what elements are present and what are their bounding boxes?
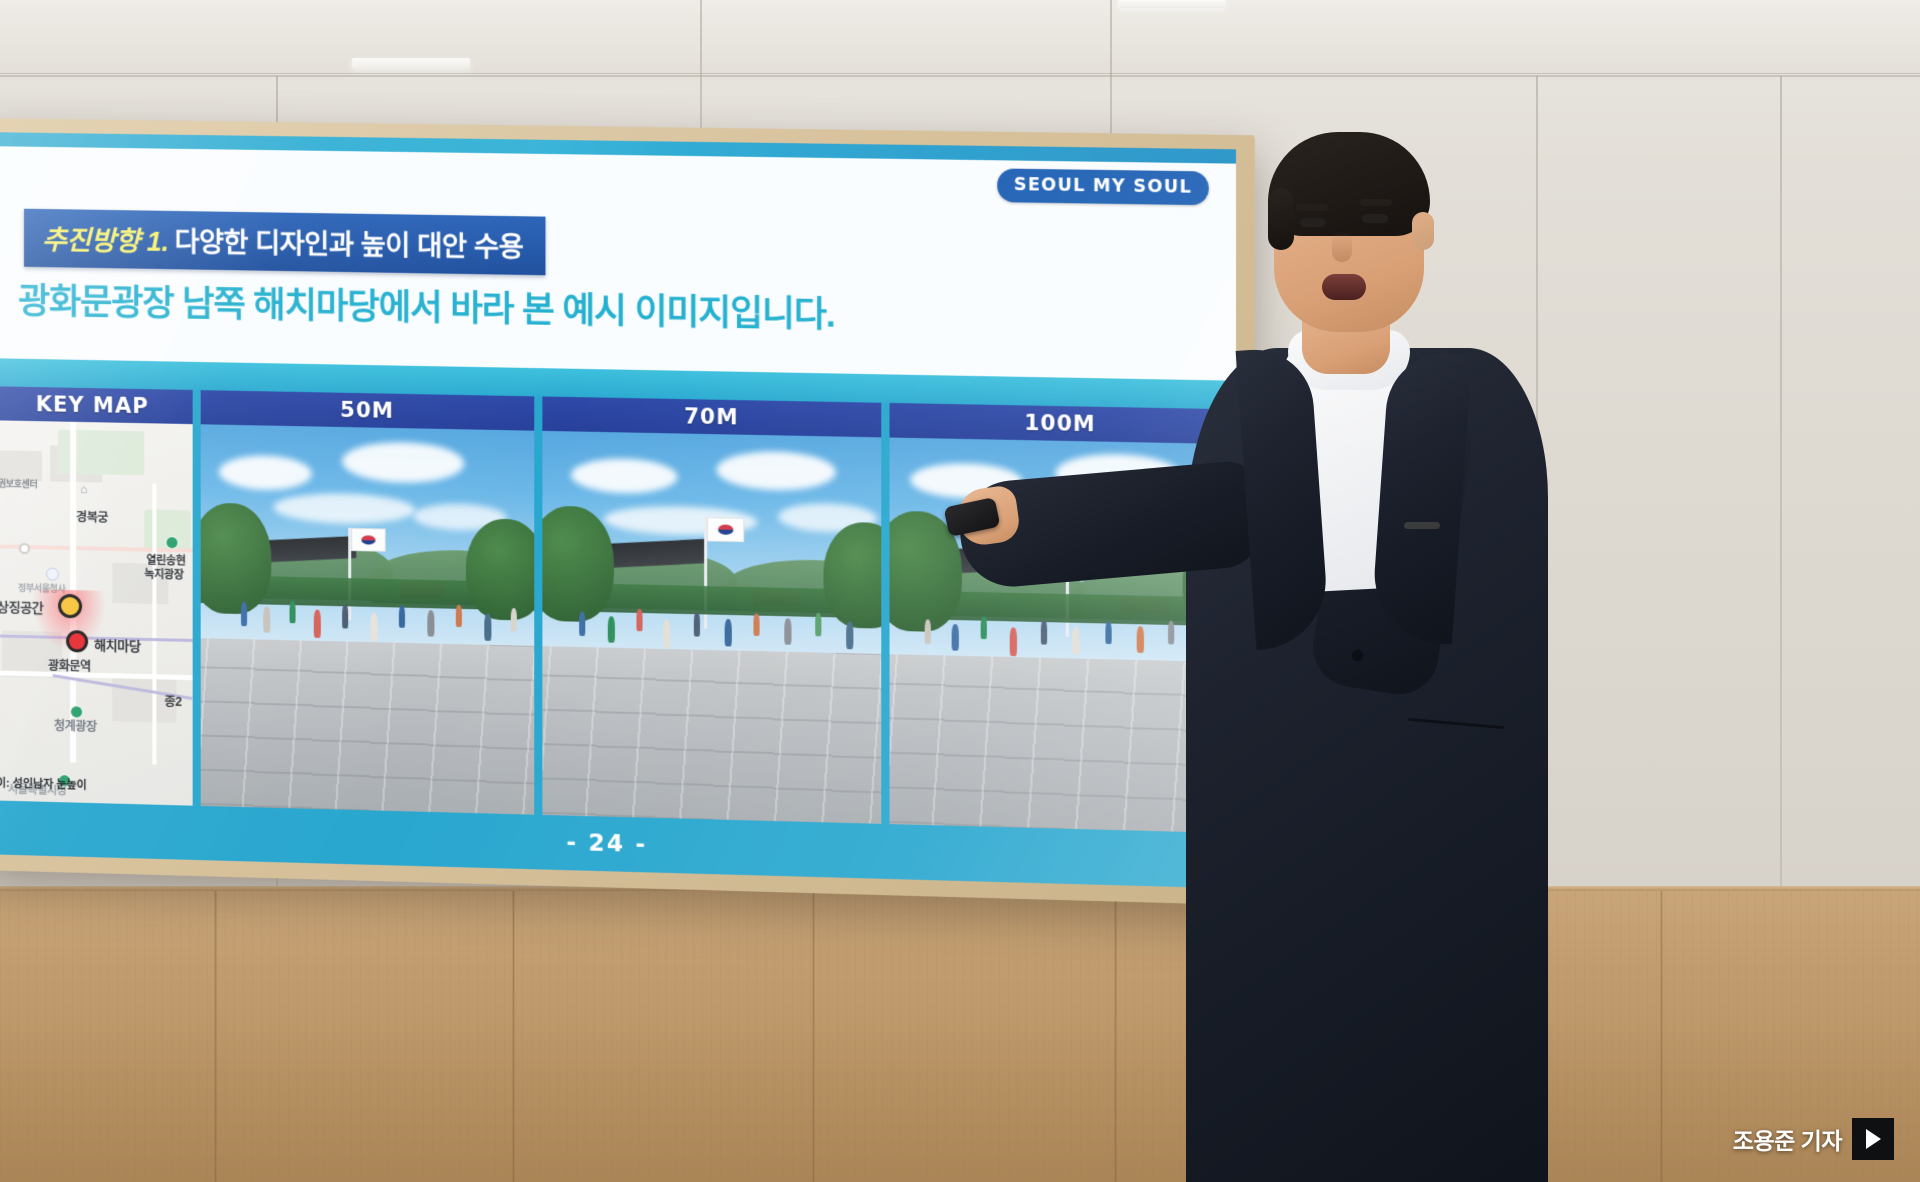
crowd-figure [370,613,377,641]
key-map-note: 이: 성인남자 눈높이 [0,774,87,792]
wall-panel-line-5 [1780,76,1782,942]
slide-surface[interactable]: SEOUL MY SOUL 추진방향 1.다양한 디자인과 높이 대안 수용 광… [0,132,1236,888]
slide-kicker-banner: 추진방향 1.다양한 디자인과 높이 대안 수용 [24,209,546,276]
crowd-figure [785,618,792,645]
map-label-human-rights: 인권보호센터 [0,476,37,490]
panel-render-50m[interactable]: 50M [201,390,535,815]
palace-icon: ⌂ [80,482,87,496]
crowd-figure [290,601,296,623]
wood-seam-2 [512,886,515,1182]
panel-render-70m[interactable]: 70M [543,396,881,823]
pin-label-haechi-madang: 해치마당 [94,635,140,655]
crowd-figure [694,612,700,636]
ceiling-light-2 [1118,0,1226,8]
photo-credit: 조용준 기자 [1733,1118,1894,1160]
plaza-ground-100m [889,653,1232,833]
wood-seam-1 [214,886,217,1182]
render-art-70m [543,431,881,824]
panel-label-key-map: KEY MAP [0,386,193,424]
map-junction-node [19,543,30,554]
triangle-glyph [1866,1129,1881,1149]
map-poi-songhyeon [165,536,178,549]
crowd-figure [342,604,348,628]
flag-taegeuk-70m [718,524,733,535]
crowd-figure [1009,627,1016,656]
render-art-50m [201,424,535,814]
crowd-figure [484,613,491,640]
press-logo-icon [1852,1118,1894,1160]
panel-row: KEY MAP [0,386,1236,833]
pin-label-symbol-space: 국가상징공간 [0,596,43,617]
wood-seam-4 [1114,886,1117,1182]
yellow-pin-icon[interactable] [58,594,82,619]
korean-flag-100m [1069,500,1111,528]
presentation-screen[interactable]: SEOUL MY SOUL 추진방향 1.다양한 디자인과 높이 대안 수용 광… [0,118,1255,905]
crowd-figure [846,622,853,650]
crowd-figure [1136,626,1143,653]
map-label-green-plaza: 녹지광장 [144,566,183,583]
flag-taegeuk-100m [1081,508,1098,520]
crowd-figure [924,619,930,644]
kicker-text: 다양한 디자인과 높이 대안 수용 [174,227,523,263]
seoul-brand-logo: SEOUL MY SOUL [997,168,1208,205]
crowd-figure [951,624,958,651]
ceiling-light-1 [352,58,470,68]
crowd-figure [637,609,643,631]
crowd-figure [725,619,732,647]
wall-seam-upper [0,75,1920,77]
korean-flag-70m [708,517,745,542]
crowd-figure [816,613,822,637]
crowd-figure [241,602,247,626]
crowd-figure [314,610,321,638]
plaza-ground-70m [543,645,881,824]
panel-key-map[interactable]: KEY MAP [0,386,193,805]
map-label-cheonggye-plaza: 청계광장 [54,717,97,735]
wall-panel-line-4 [1536,76,1538,942]
wood-wainscot [0,886,1920,1182]
map-label-gwanghwamun-stn: 광화문역 [48,657,91,675]
screen-mount-dot [1240,897,1259,916]
crowd-figure [608,616,615,642]
panel-render-100m[interactable]: 100M [889,403,1232,833]
kicker-number: 추진방향 1. [42,225,168,257]
slide-page-number: - 24 - [566,830,647,858]
photographer-name: 조용준 기자 [1733,1122,1842,1156]
crowd-figure [427,610,434,636]
render-art-100m [889,438,1232,834]
slide-subtitle: 광화문광장 남쪽 해치마당에서 바라 본 예시 이미지입니다. [18,273,834,338]
crowd-figure [1201,630,1208,658]
crowd-figure [263,606,270,632]
ceiling-strip [0,0,1920,74]
plaza-ground-50m [201,637,535,815]
map-road-h1 [0,670,193,680]
wood-seam-3 [812,886,815,1182]
crowd-figure [1168,621,1174,645]
crowd-figure [456,605,462,627]
crowd-figure [754,613,760,635]
crowd-figure [1105,621,1111,644]
crowd-figure [980,617,986,640]
wood-seam-5 [1660,886,1663,1182]
crowd-figure [1041,620,1047,645]
map-poi-govt [46,567,59,580]
slide-body: SEOUL MY SOUL 추진방향 1.다양한 디자인과 높이 대안 수용 광… [0,146,1236,888]
crowd-figure [579,612,585,636]
flag-taegeuk-50m [361,535,375,545]
red-pin-icon[interactable] [66,630,88,653]
crowd-figure [1072,627,1079,655]
map-label-jongno2: 종2 [164,693,181,710]
key-map-art: ⌂ 인권보호센터 경복궁 열린송현 녹지광장 정부서울청사 광화문역 청계광장 [0,420,193,805]
key-map-canvas: ⌂ 인권보호센터 경복궁 열린송현 녹지광장 정부서울청사 광화문역 청계광장 [0,420,193,805]
map-label-gyeongbokgung: 경복궁 [76,508,108,526]
crowd-figure [511,608,517,631]
crowd-figure [399,605,405,627]
crowd-figure [663,620,670,649]
map-road-v2 [152,484,156,765]
tree-right-50m [466,518,535,621]
korean-flag-50m [351,528,385,552]
